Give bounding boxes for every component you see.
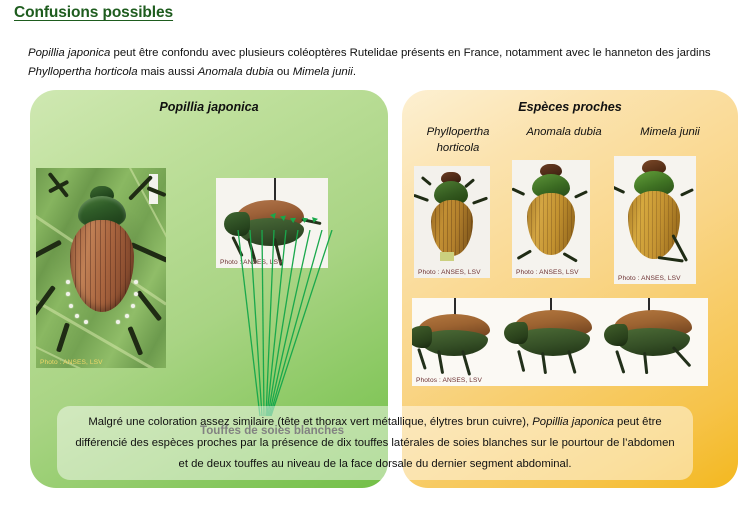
species-label-line1: Anomala dubia	[510, 124, 618, 140]
specimen-leg	[563, 252, 578, 263]
caption-text: Malgré une coloration assez similaire (t…	[57, 412, 693, 475]
specimen-leg	[615, 350, 625, 374]
beetle-leg	[231, 236, 243, 257]
beetle-leg	[127, 326, 143, 356]
specimen-head-lateral	[504, 322, 528, 344]
white-tuft	[84, 320, 88, 324]
white-tuft	[125, 314, 129, 318]
species-label-line1: Phyllopertha	[404, 124, 512, 140]
white-tuft	[116, 320, 120, 324]
photo-credit: Photo : ANSES, LSV	[618, 275, 681, 282]
panel-popillia-title: Popillia japonica	[30, 100, 388, 114]
specimen-leg	[472, 197, 488, 205]
specimen-leg	[680, 188, 694, 197]
species-label-anomala-dubia: Anomala dubia	[510, 124, 618, 140]
photo-popillia-on-leaf: Photo : ANSES, LSV	[36, 168, 166, 368]
white-tuft	[75, 314, 79, 318]
photo-credit: Photo : ANSES, LSV	[220, 259, 283, 266]
intro-paragraph: Popillia japonica peut être confondu ave…	[28, 44, 728, 82]
specimen-leg	[512, 187, 525, 196]
photo-mimela-junii: Photo : ANSES, LSV	[614, 156, 696, 284]
specimen-leg	[517, 350, 525, 372]
white-tuft	[66, 280, 70, 284]
species-label-phyllopertha-horticola: Phyllopertha horticola	[404, 124, 512, 156]
pointer-arrow-icon	[280, 215, 287, 221]
caption-box: Malgré une coloration assez similaire (t…	[57, 406, 693, 480]
specimen-leg	[567, 350, 576, 374]
beetle-elytra	[70, 220, 134, 312]
specimen-leg	[417, 348, 427, 370]
pointer-arrow-icon	[290, 218, 296, 223]
beetle-leg	[130, 242, 166, 263]
page-title: Confusions possibles	[14, 4, 173, 22]
specimen-elytra	[527, 193, 575, 255]
photo-phyllopertha-horticola: Photo : ANSES, LSV	[414, 166, 490, 278]
specimen-elytra	[431, 200, 473, 256]
photo-lateral-comparison-strip: Photos : ANSES, LSV	[412, 298, 708, 386]
species-label-line1: Mimela junii	[616, 124, 724, 140]
photo-credit: Photo : ANSES, LSV	[516, 269, 579, 276]
photo-credit: Photo : ANSES, LSV	[418, 269, 481, 276]
specimen-leg	[574, 190, 588, 199]
beetle-leg	[36, 240, 62, 263]
specimen-elytra	[628, 191, 680, 259]
specimen-head-lateral	[604, 324, 628, 346]
specimen-leg	[614, 185, 625, 194]
species-label-line2: horticola	[404, 140, 512, 156]
white-tuft	[69, 304, 73, 308]
specimen-leg	[414, 194, 429, 202]
specimen-label-tag	[440, 252, 454, 261]
species-label-mimela-junii: Mimela junii	[616, 124, 724, 140]
specimen-leg	[464, 178, 475, 188]
photo-anomala-dubia: Photo : ANSES, LSV	[512, 160, 590, 278]
specimen-head-lateral	[412, 326, 432, 348]
specimen-leg	[421, 176, 432, 186]
photo-credit: Photos : ANSES, LSV	[416, 377, 482, 384]
white-tuft	[66, 292, 70, 296]
specimen-leg	[658, 256, 684, 263]
white-tuft	[134, 292, 138, 296]
beetle-head-lateral	[224, 212, 250, 236]
photo-credit: Photo : ANSES, LSV	[40, 359, 103, 366]
photo-popillia-lateral: Photo : ANSES, LSV	[216, 178, 328, 268]
white-tuft	[131, 304, 135, 308]
specimen-leg	[517, 249, 532, 260]
white-tuft	[134, 280, 138, 284]
pointer-arrow-icon	[301, 218, 308, 224]
panel-especes-title: Espèces proches	[402, 100, 738, 114]
beetle-leg	[56, 322, 70, 352]
